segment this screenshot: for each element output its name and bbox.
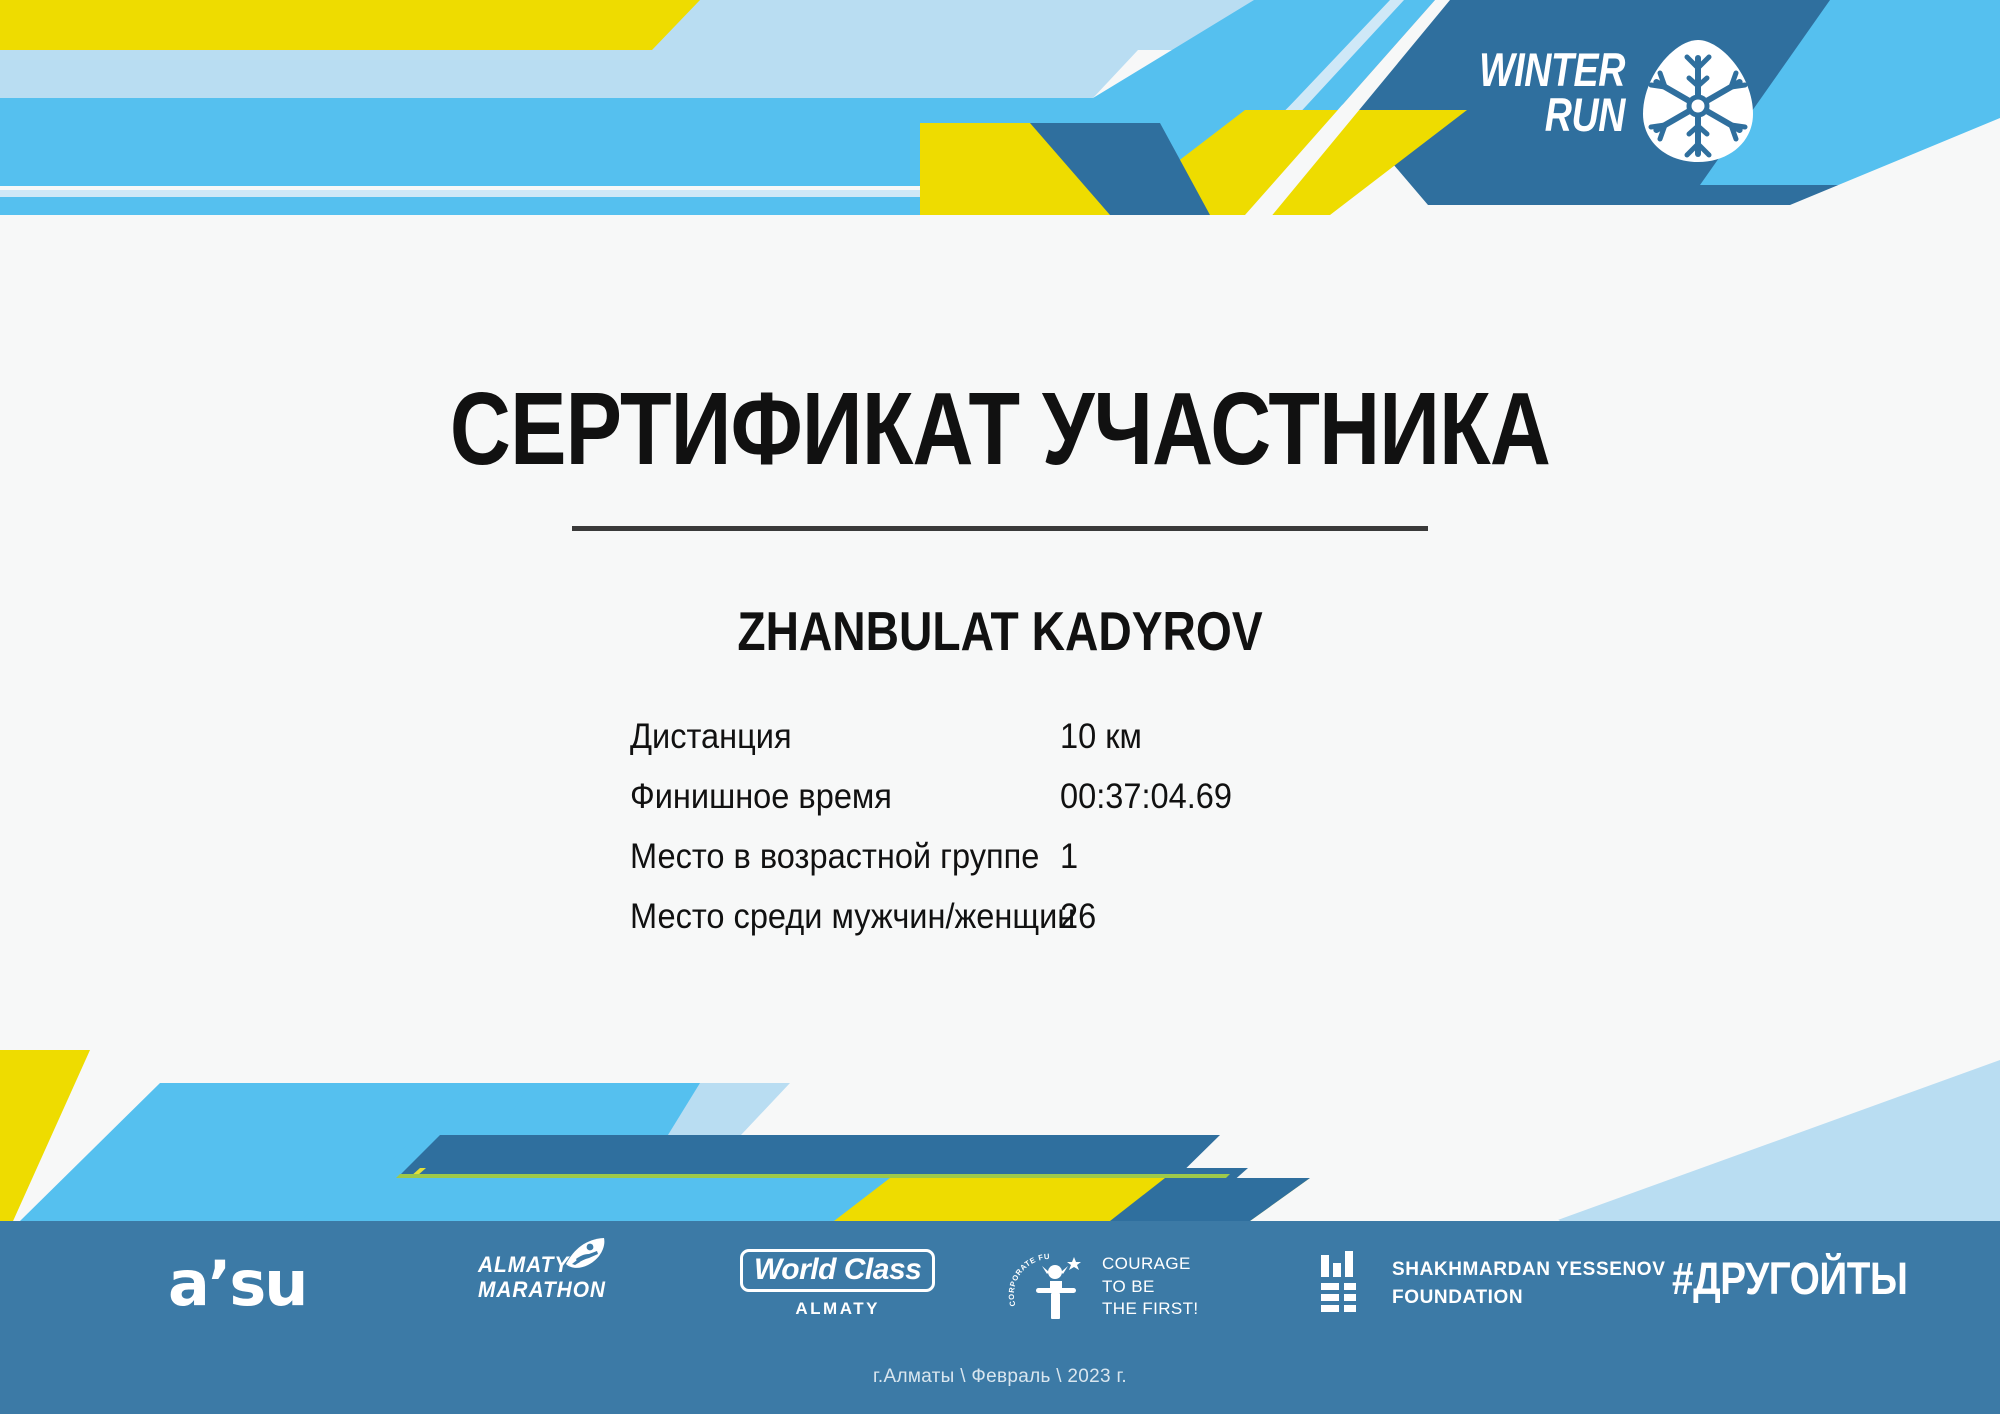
yessenov-line2: FOUNDATION bbox=[1392, 1284, 1665, 1312]
deco-top-cyan-band2 bbox=[0, 0, 1435, 215]
deco-top-white-base bbox=[0, 0, 1450, 230]
footer-bar: aʼsu ALMATY MARATHON bbox=[0, 1221, 2000, 1414]
deco-bot-yellow-left bbox=[0, 1050, 90, 1250]
deco-bot-lightblue-wedge2 bbox=[510, 1083, 740, 1221]
courage-arc-text: CORPORATE FUND bbox=[1008, 1245, 1050, 1307]
place-and-date: г.Алматы \ Февраль \ 2023 г. bbox=[0, 1366, 2000, 1388]
logo-line-winter: WINTER bbox=[1457, 48, 1625, 91]
detail-value: 26 bbox=[1060, 897, 1096, 937]
almaty-marathon-line2: MARATHON bbox=[478, 1278, 606, 1303]
deco-top-thinline2 bbox=[1222, 192, 1240, 200]
detail-row-gender-place: Место среди мужчин/женщин 26 bbox=[630, 897, 1380, 937]
page-title: СЕРТИФИКАТ УЧАСТНИКА bbox=[180, 370, 1820, 488]
detail-row-finish-time: Финишное время 00:37:04.69 bbox=[630, 777, 1380, 817]
detail-value: 10 км bbox=[1060, 717, 1142, 757]
hashtag-wordmark: #ДРУГОЙТЫ bbox=[1672, 1253, 1907, 1305]
world-class-wordmark: World Class bbox=[754, 1253, 921, 1286]
detail-label: Место среди мужчин/женщин bbox=[630, 897, 1030, 937]
certificate-body: СЕРТИФИКАТ УЧАСТНИКА ZHANBULAT KADYROV Д… bbox=[0, 370, 2000, 937]
deco-top-blue-wedge bbox=[1030, 123, 1210, 215]
snowflake-in-droplet-icon bbox=[1633, 36, 1763, 166]
world-class-city: ALMATY bbox=[740, 1299, 935, 1319]
detail-row-distance: Дистанция 10 км bbox=[630, 717, 1380, 757]
deco-bot-yellow-thin bbox=[400, 1168, 1200, 1186]
deco-bot-lightblue-wedge bbox=[268, 1083, 790, 1221]
detail-label: Дистанция bbox=[630, 717, 1030, 757]
deco-bot-white-notch bbox=[1250, 1120, 1560, 1221]
world-class-badge: World Class bbox=[740, 1249, 935, 1292]
yessenov-line1: SHAKHMARDAN YESSENOV bbox=[1392, 1256, 1665, 1284]
deco-top-yellow-band bbox=[0, 0, 700, 50]
deco-bot-lightblue-right bbox=[1555, 1060, 2000, 1221]
deco-top-thin-line bbox=[0, 0, 1406, 197]
logo-line-run: RUN bbox=[1457, 93, 1625, 136]
deco-top-cyan-band bbox=[0, 0, 1398, 186]
detail-value: 1 bbox=[1060, 837, 1078, 877]
detail-value: 00:37:04.69 bbox=[1060, 777, 1232, 817]
deco-top-lightblue-band bbox=[0, 0, 1255, 98]
deco-bot-yellow-band bbox=[834, 1178, 1310, 1221]
sponsor-hashtag: #ДРУГОЙТЫ bbox=[1672, 1253, 1946, 1305]
deco-bot-darkblue-bar bbox=[386, 1135, 1220, 1189]
sponsor-asu: aʼsu bbox=[168, 1253, 306, 1315]
deco-top-yellow-parallelogram bbox=[1108, 110, 1467, 215]
sponsor-almaty-marathon: ALMATY MARATHON bbox=[478, 1253, 613, 1302]
result-details: Дистанция 10 км Финишное время 00:37:04.… bbox=[620, 717, 1380, 937]
deco-top-yellow-triangle bbox=[920, 123, 1210, 215]
sponsor-yessenov-foundation: SHAKHMARDAN YESSENOV FOUNDATION bbox=[1318, 1251, 1665, 1317]
detail-label: Финишное время bbox=[630, 777, 1030, 817]
deco-bot-cyan-lower bbox=[300, 1178, 1030, 1221]
courage-line2: TO BE bbox=[1102, 1276, 1199, 1299]
winter-run-logo: WINTER RUN bbox=[1415, 40, 1785, 165]
courage-line3: THE FIRST! bbox=[1102, 1298, 1199, 1321]
athlete-name: ZHANBULAT KADYROV bbox=[160, 599, 1840, 663]
title-divider bbox=[572, 526, 1428, 531]
yessenov-text-block: SHAKHMARDAN YESSENOV FOUNDATION bbox=[1392, 1256, 1665, 1311]
deco-top-rightwhite bbox=[1790, 118, 2000, 205]
deco-bot-darkblue-bar2 bbox=[366, 1168, 1248, 1221]
sponsor-logos: aʼsu ALMATY MARATHON bbox=[0, 1247, 2000, 1327]
winter-run-wordmark: WINTER RUN bbox=[1415, 48, 1625, 136]
deco-bot-darkblue-cap bbox=[1110, 1178, 1310, 1221]
courage-text-block: COURAGE TO BE THE FIRST! bbox=[1102, 1253, 1199, 1321]
detail-row-age-group-place: Место в возрастной группе 1 bbox=[630, 837, 1380, 877]
deco-bot-cyan-main2 bbox=[330, 1083, 640, 1221]
deco-bot-cyan-main bbox=[20, 1083, 600, 1221]
detail-label: Место в возрастной группе bbox=[630, 837, 1030, 877]
certificate-page: WINTER RUN bbox=[0, 0, 2000, 1414]
bars-grid-icon bbox=[1318, 1251, 1370, 1317]
almaty-marathon-line1: ALMATY bbox=[478, 1253, 606, 1278]
svg-text:CORPORATE FUND: CORPORATE FUND bbox=[1008, 1245, 1050, 1307]
courage-line1: COURAGE bbox=[1102, 1253, 1199, 1276]
deco-bot-cyan-triangle bbox=[445, 1083, 700, 1221]
asu-wordmark: aʼsu bbox=[168, 1253, 306, 1315]
sponsor-courage-fund: CORPORATE FUND COURAGE TO BE bbox=[1008, 1245, 1199, 1329]
sponsor-world-class: World Class ALMATY bbox=[740, 1249, 935, 1319]
person-with-star-icon: CORPORATE FUND bbox=[1008, 1245, 1096, 1329]
deco-bot-greenline bbox=[394, 1174, 1230, 1180]
